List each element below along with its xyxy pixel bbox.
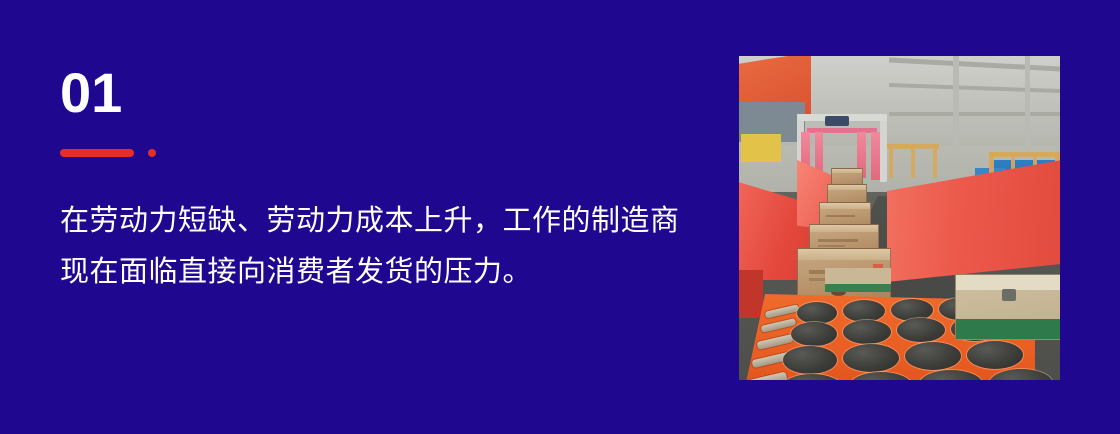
- box-lid: [820, 203, 870, 209]
- box-label: [818, 239, 857, 242]
- warehouse-photo: [739, 56, 1060, 380]
- table-roller: [897, 318, 945, 342]
- box-lid: [810, 225, 878, 232]
- table-roller: [797, 302, 837, 324]
- box-lid: [956, 275, 1060, 290]
- table-roller: [905, 342, 961, 370]
- gantry-leg: [880, 114, 887, 182]
- gantry-control-box: [825, 116, 849, 126]
- table-roller: [843, 344, 899, 372]
- wall-column: [1025, 56, 1030, 152]
- section-number: 01: [60, 64, 700, 122]
- box-band: [956, 319, 1060, 339]
- accent-bar: [60, 149, 134, 157]
- box-lid: [798, 249, 890, 260]
- box-label: [826, 215, 855, 217]
- body-paragraph: 在劳动力短缺、劳动力成本上升，工作的制造商现在面临直接向消费者发货的压力。: [60, 196, 700, 298]
- box-lid: [828, 185, 866, 190]
- box-label: [818, 245, 845, 247]
- table-roller: [843, 300, 885, 322]
- left-content-block: 01 在劳动力短缺、劳动力成本上升，工作的制造商现在面临直接向消费者发货的压力。: [60, 64, 700, 298]
- red-post: [739, 270, 763, 318]
- table-roller: [843, 320, 891, 344]
- photo-frame: [739, 56, 1060, 380]
- divider: [60, 148, 700, 158]
- table-roller: [791, 322, 837, 346]
- wooden-rack: [989, 152, 1060, 157]
- box-lid: [832, 169, 862, 173]
- wooden-rack: [911, 144, 915, 178]
- wooden-rack: [933, 144, 937, 178]
- box-band: [825, 284, 891, 292]
- slide-root: 01 在劳动力短缺、劳动力成本上升，工作的制造商现在面临直接向消费者发货的压力。: [0, 0, 1120, 434]
- curtain-strip: [871, 132, 880, 180]
- accent-dot: [148, 149, 156, 157]
- box-logo: [1002, 289, 1016, 301]
- wooden-rack: [889, 144, 893, 178]
- green-banded-box: [955, 274, 1060, 340]
- table-roller: [967, 341, 1023, 369]
- yellow-pallet: [741, 134, 781, 162]
- ceiling-beam: [889, 112, 1060, 116]
- wall-column: [953, 56, 959, 152]
- table-roller: [783, 346, 837, 374]
